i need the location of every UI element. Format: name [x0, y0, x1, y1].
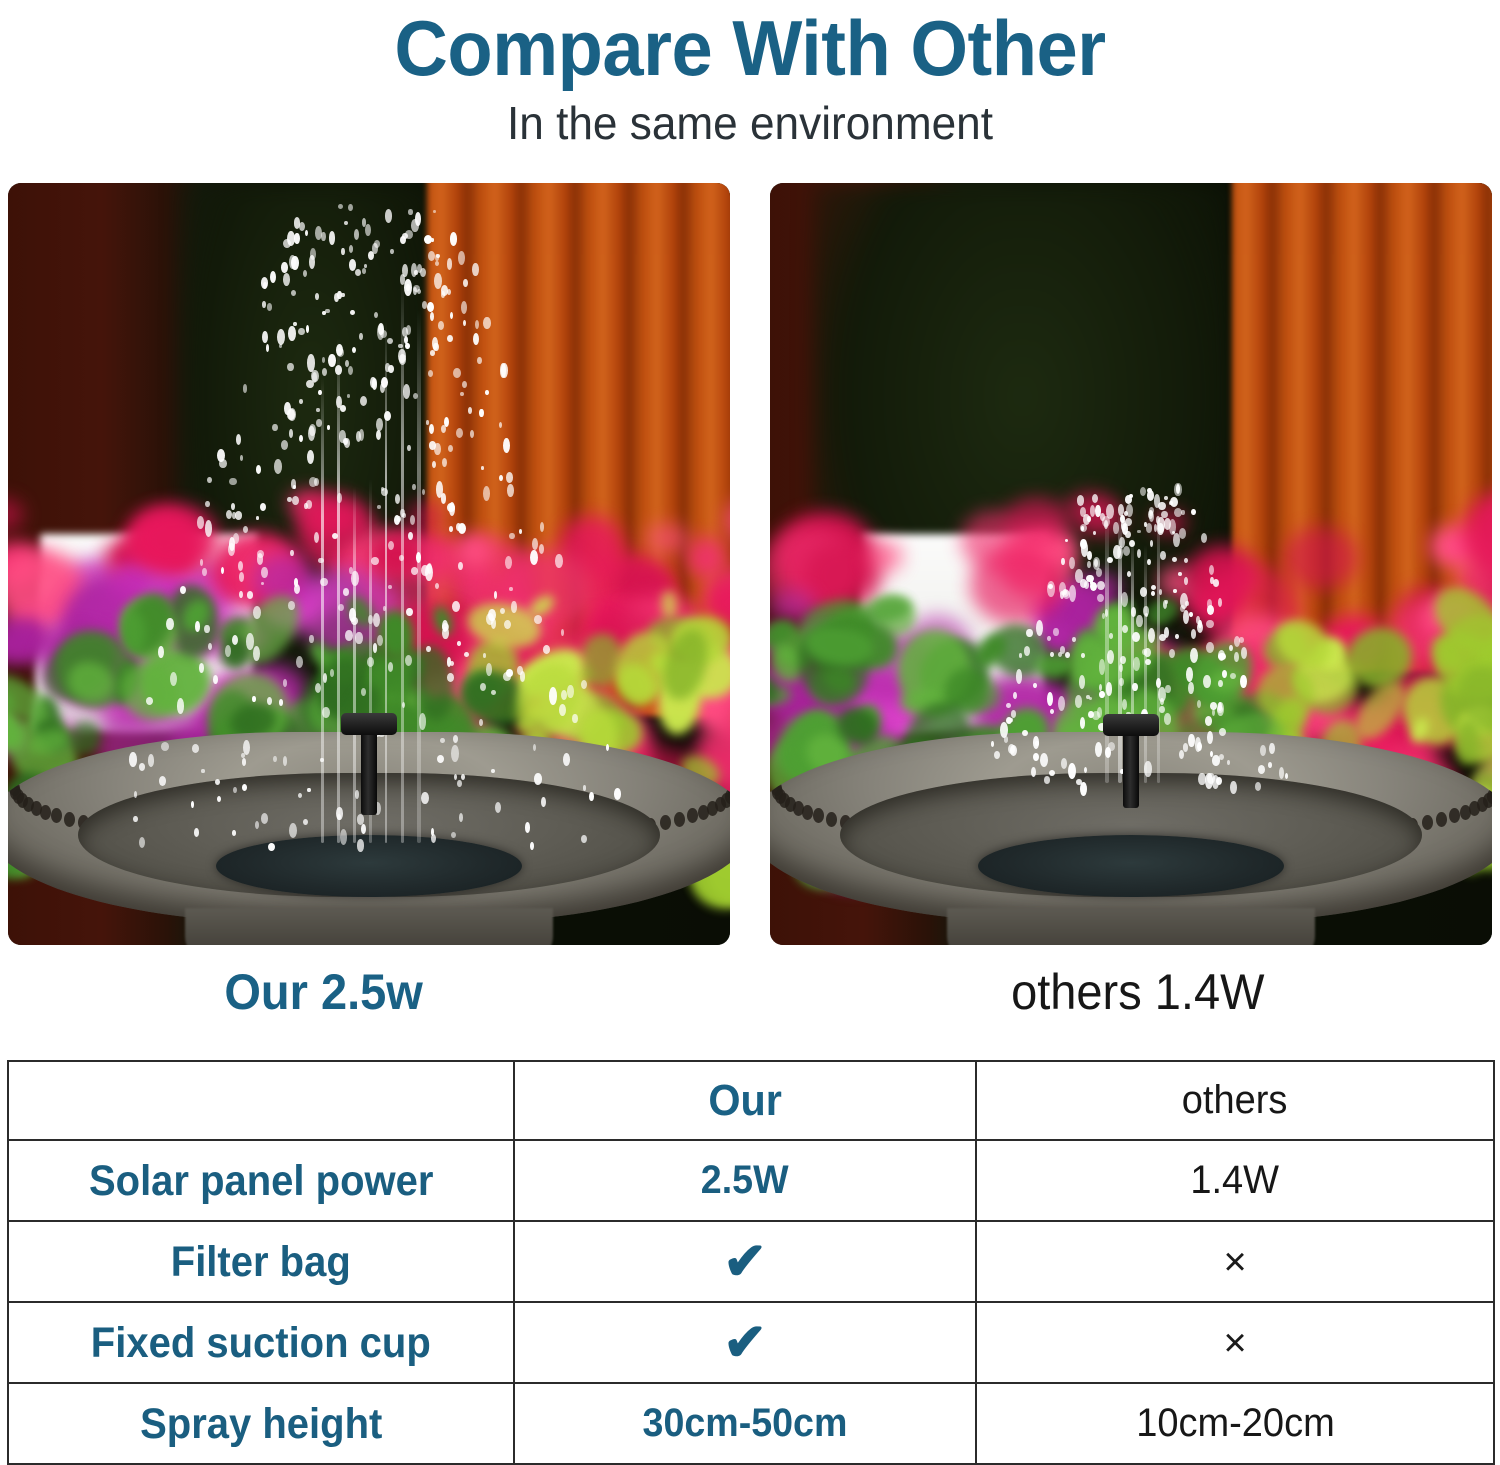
fountain-pump-nozzle: [1123, 730, 1139, 808]
table-row: Fixed suction cup ✔ ×: [8, 1302, 1494, 1383]
row-label-cell: Filter bag: [8, 1221, 514, 1302]
solar-panel-disc: [978, 835, 1284, 897]
photo-other-fountain: [770, 183, 1492, 945]
table-header-row: Our others: [8, 1061, 1494, 1140]
cross-icon: ×: [1223, 1323, 1246, 1363]
check-icon: ✔: [723, 1317, 767, 1369]
table-header-others: others: [976, 1061, 1494, 1140]
row-other-value: 10cm-20cm: [1136, 1401, 1335, 1446]
row-label: Filter bag: [171, 1237, 351, 1287]
row-our-cell: 30cm-50cm: [514, 1383, 976, 1464]
table-row: Spray height 30cm-50cm 10cm-20cm: [8, 1383, 1494, 1464]
table-header-our: Our: [514, 1061, 976, 1140]
comparison-photo-row: [8, 183, 1492, 945]
row-other-value: 1.4W: [1191, 1158, 1280, 1203]
page-header: Compare With Other In the same environme…: [0, 0, 1500, 150]
comparison-table: Our others Solar panel power 2.5W 1.4W F…: [7, 1060, 1495, 1465]
solar-panel-disc: [216, 835, 522, 897]
pump-head: [341, 713, 397, 735]
caption-others: others 1.4W: [1011, 962, 1264, 1022]
row-other-cell: 10cm-20cm: [976, 1383, 1494, 1464]
row-our-cell: ✔: [514, 1302, 976, 1383]
row-our-cell: ✔: [514, 1221, 976, 1302]
photo-captions: Our 2.5w others 1.4W: [0, 962, 1500, 1042]
cross-icon: ×: [1223, 1242, 1246, 1282]
row-label: Solar panel power: [89, 1156, 433, 1206]
row-label: Fixed suction cup: [91, 1318, 431, 1368]
caption-our: Our 2.5w: [224, 962, 423, 1022]
table-header-blank: [8, 1061, 514, 1140]
row-label-cell: Spray height: [8, 1383, 514, 1464]
row-other-cell: 1.4W: [976, 1140, 1494, 1221]
check-icon: ✔: [723, 1236, 767, 1288]
row-label-cell: Solar panel power: [8, 1140, 514, 1221]
birdbath-pedestal: [947, 908, 1314, 945]
page-subtitle: In the same environment: [30, 96, 1470, 150]
row-label-cell: Fixed suction cup: [8, 1302, 514, 1383]
row-our-value: 2.5W: [701, 1158, 789, 1203]
table-row: Filter bag ✔ ×: [8, 1221, 1494, 1302]
birdbath-pedestal: [185, 908, 552, 945]
row-other-cell: ×: [976, 1221, 1494, 1302]
photo-our-fountain: [8, 183, 730, 945]
row-our-value: 30cm-50cm: [643, 1401, 848, 1446]
table-row: Solar panel power 2.5W 1.4W: [8, 1140, 1494, 1221]
page-title: Compare With Other: [38, 4, 1463, 92]
row-our-cell: 2.5W: [514, 1140, 976, 1221]
row-other-cell: ×: [976, 1302, 1494, 1383]
fountain-pump-nozzle: [361, 729, 377, 815]
table-header-our-label: Our: [708, 1076, 782, 1126]
table-header-others-label: others: [1182, 1078, 1288, 1123]
row-label: Spray height: [140, 1399, 382, 1449]
pump-head: [1103, 714, 1159, 736]
